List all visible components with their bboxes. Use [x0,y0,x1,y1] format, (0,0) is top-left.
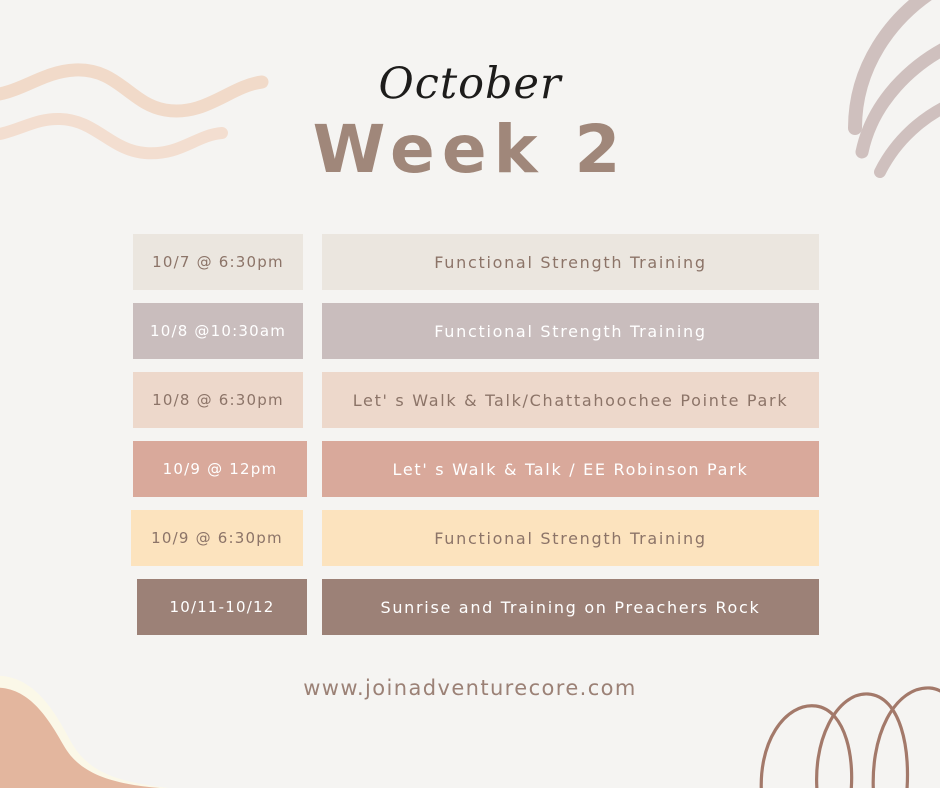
row-date: 10/11-10/12 [169,598,274,616]
row-event-box: Functional Strength Training [322,234,819,290]
row-date-box: 10/9 @ 12pm [133,441,307,497]
row-date-box: 10/8 @ 6:30pm [133,372,303,428]
row-event: Functional Strength Training [434,529,706,548]
bottom-right-loops-decor [761,688,940,788]
schedule-row: 10/9 @ 6:30pm Functional Strength Traini… [0,510,940,578]
schedule-row: 10/11-10/12 Sunrise and Training on Prea… [0,579,940,647]
schedule-row: 10/8 @10:30am Functional Strength Traini… [0,303,940,371]
page-title: Week 2 [0,111,940,189]
schedule-row: 10/9 @ 12pm Let' s Walk & Talk / EE Robi… [0,441,940,509]
row-date: 10/8 @10:30am [150,322,286,340]
schedule-list: 10/7 @ 6:30pm Functional Strength Traini… [0,234,940,648]
row-event-box: Functional Strength Training [322,303,819,359]
month-label: October [0,62,940,107]
website-url: www.joinadventurecore.com [303,676,637,700]
row-event: Sunrise and Training on Preachers Rock [380,598,760,617]
row-date: 10/9 @ 12pm [163,460,278,478]
row-date-box: 10/9 @ 6:30pm [131,510,303,566]
row-date-box: 10/7 @ 6:30pm [133,234,303,290]
row-date: 10/8 @ 6:30pm [152,391,284,409]
row-event-box: Functional Strength Training [322,510,819,566]
row-event-box: Sunrise and Training on Preachers Rock [322,579,819,635]
row-date: 10/7 @ 6:30pm [152,253,284,271]
row-date: 10/9 @ 6:30pm [151,529,283,547]
poster-header: October Week 2 [0,62,940,189]
row-event: Functional Strength Training [434,322,706,341]
row-date-box: 10/8 @10:30am [133,303,303,359]
row-date-box: 10/11-10/12 [137,579,307,635]
row-event: Functional Strength Training [434,253,706,272]
schedule-row: 10/7 @ 6:30pm Functional Strength Traini… [0,234,940,302]
row-event-box: Let' s Walk & Talk/Chattahoochee Pointe … [322,372,819,428]
poster-footer: www.joinadventurecore.com [0,676,940,700]
schedule-row: 10/8 @ 6:30pm Let' s Walk & Talk/Chattah… [0,372,940,440]
row-event: Let' s Walk & Talk/Chattahoochee Pointe … [353,391,789,410]
row-event-box: Let' s Walk & Talk / EE Robinson Park [322,441,819,497]
row-event: Let' s Walk & Talk / EE Robinson Park [393,460,749,479]
schedule-poster: October Week 2 10/7 @ 6:30pm Functional … [0,0,940,788]
